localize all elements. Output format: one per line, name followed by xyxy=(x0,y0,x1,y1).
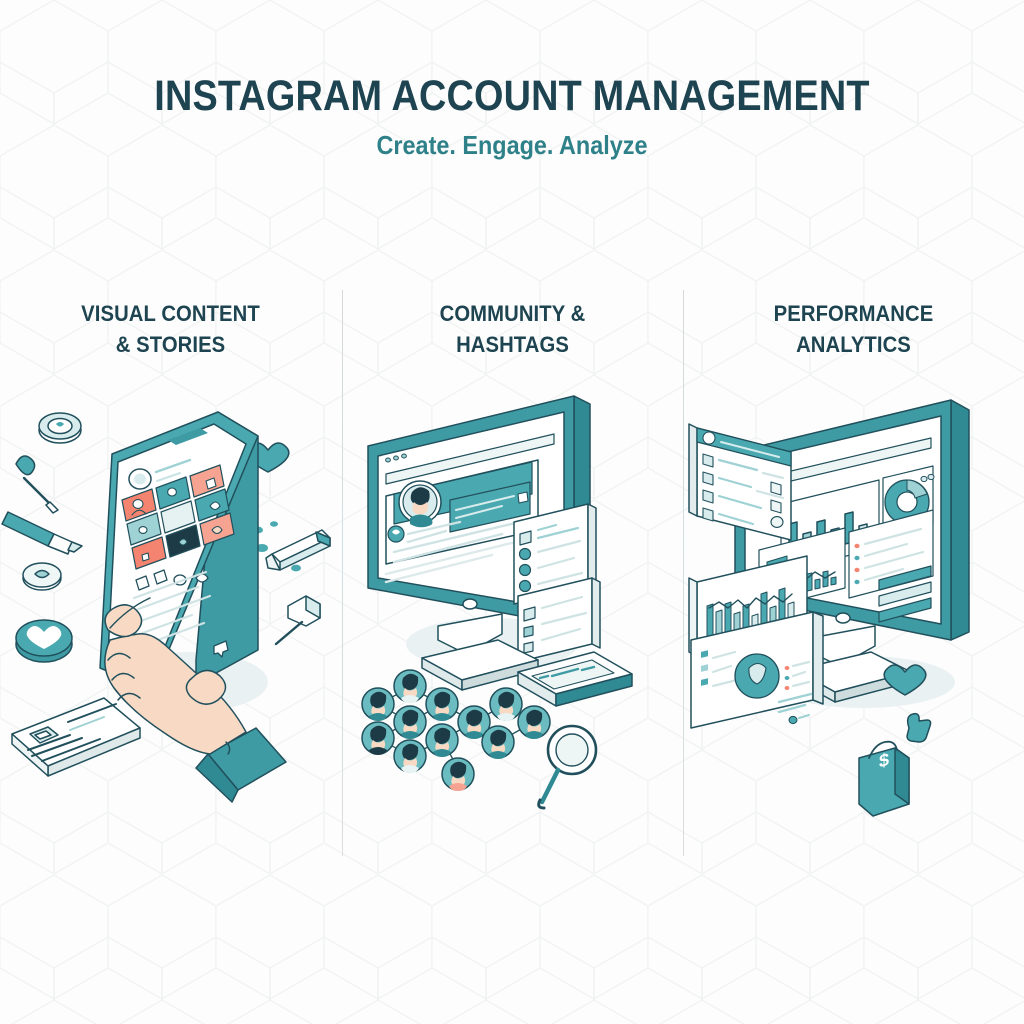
column-heading-visual-content: VISUAL CONTENT & STORIES xyxy=(17,298,324,360)
column-heading-line1: VISUAL CONTENT xyxy=(17,298,324,329)
column-heading-line1: PERFORMANCE xyxy=(700,298,1007,329)
brush-icon xyxy=(16,456,58,513)
ruler-icon xyxy=(2,512,82,554)
camera-icon xyxy=(39,413,81,443)
thumbs-up-icon xyxy=(907,714,931,742)
column-community-hashtags: COMMUNITY & HASHTAGS xyxy=(342,290,683,870)
column-heading-community-hashtags: COMMUNITY & HASHTAGS xyxy=(359,298,666,360)
page-title: INSTAGRAM ACCOUNT MANAGEMENT xyxy=(61,74,962,119)
floating-stats-card xyxy=(689,424,791,540)
column-heading-line2: HASHTAGS xyxy=(359,329,666,360)
id-card xyxy=(12,698,140,776)
column-performance-analytics: PERFORMANCE ANALYTICS xyxy=(683,290,1024,870)
page-subtitle: Create. Engage. Analyze xyxy=(51,131,973,160)
illustration-hand-holding-phone xyxy=(0,382,341,852)
magnifier-icon xyxy=(539,726,596,808)
column-heading-performance-analytics: PERFORMANCE ANALYTICS xyxy=(700,298,1007,360)
pencil-icon xyxy=(266,530,330,570)
heart-icon-left xyxy=(16,620,72,662)
network-node-group xyxy=(362,670,550,791)
card-logo-mark xyxy=(789,715,809,724)
illustration-monitor-and-network xyxy=(342,382,683,852)
column-heading-line2: ANALYTICS xyxy=(700,329,1007,360)
svg-text:$: $ xyxy=(879,748,889,771)
user-network-graph xyxy=(362,670,550,791)
column-visual-content: VISUAL CONTENT & STORIES xyxy=(0,290,341,870)
illustration-analytics-dashboard: $ xyxy=(683,382,1024,852)
columns-container: VISUAL CONTENT & STORIES xyxy=(0,290,1024,870)
shopping-bag-icon: $ xyxy=(859,742,909,816)
hand xyxy=(105,598,286,802)
column-heading-line2: & STORIES xyxy=(17,329,324,360)
header: INSTAGRAM ACCOUNT MANAGEMENT Create. Eng… xyxy=(0,74,1024,160)
column-heading-line1: COMMUNITY & xyxy=(359,298,666,329)
cursor-icon xyxy=(276,596,320,644)
sticker-icon xyxy=(23,563,61,590)
